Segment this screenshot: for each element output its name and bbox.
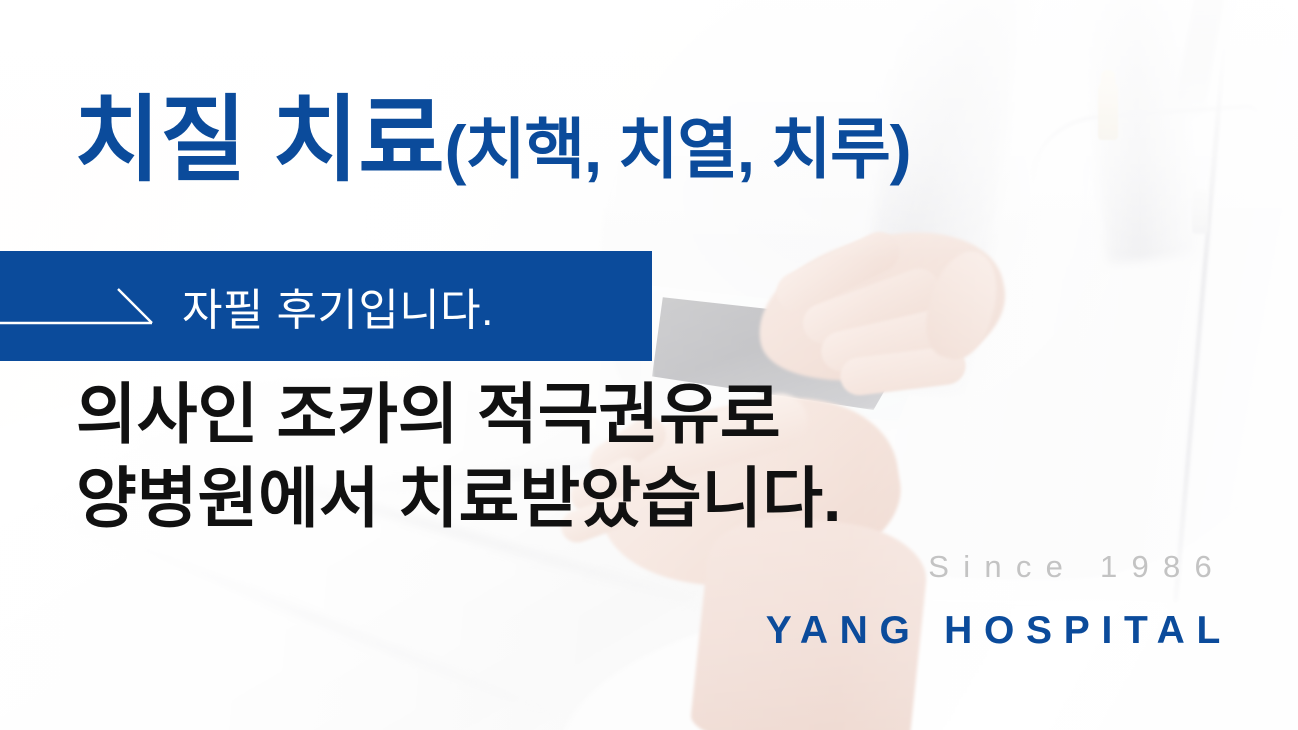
testimonial-text: 의사인 조카의 적극권유로 양병원에서 치료받았습니다.	[76, 372, 841, 541]
promotional-banner: 치질 치료(치핵, 치열, 치루) 자필 후기입니다. 의사인 조카의 적극권유…	[0, 0, 1298, 730]
since-label: Since 1986	[928, 549, 1226, 585]
ribbon-label: 자필 후기입니다.	[182, 274, 494, 338]
banner-content: 치질 치료(치핵, 치열, 치루) 자필 후기입니다. 의사인 조카의 적극권유…	[0, 0, 1298, 730]
testimonial-line-1: 의사인 조카의 적극권유로	[76, 372, 841, 456]
headline-parenthetical: (치핵, 치열, 치루)	[444, 112, 910, 186]
long-arrow-right-icon	[0, 281, 156, 331]
testimonial-line-2: 양병원에서 치료받았습니다.	[76, 456, 841, 540]
hospital-name: YANG HOSPITAL	[766, 609, 1232, 653]
headline-main: 치질 치료	[74, 87, 444, 192]
page-title: 치질 치료(치핵, 치열, 치루)	[74, 93, 910, 187]
testimonial-ribbon: 자필 후기입니다.	[0, 251, 652, 361]
